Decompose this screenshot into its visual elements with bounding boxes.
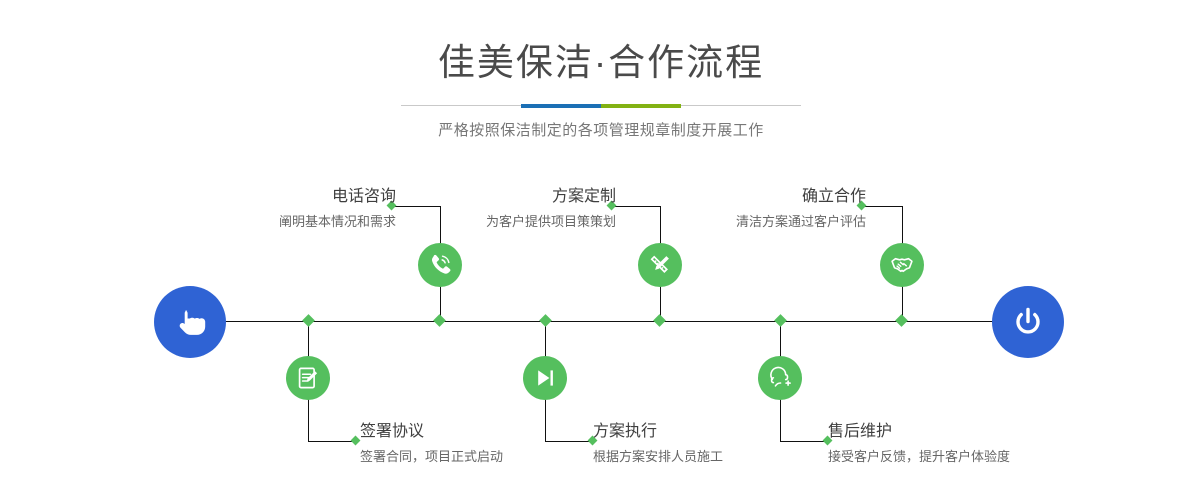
step-title-4: 方案执行 xyxy=(593,421,723,443)
step-label-5: 确立合作 清洁方案通过客户评估 xyxy=(690,186,866,231)
play-skip-icon xyxy=(532,365,558,391)
axis-marker-step-5 xyxy=(895,314,908,327)
step-desc-5: 清洁方案通过客户评估 xyxy=(690,208,866,231)
connector-horizontal-step-6 xyxy=(780,441,828,442)
step-title-5: 确立合作 xyxy=(690,186,866,208)
headset-support-icon xyxy=(767,365,793,391)
step-label-1: 电话咨询 阐明基本情况和需求 xyxy=(220,186,396,231)
step-icon-4[interactable] xyxy=(523,356,567,400)
step-icon-6[interactable] xyxy=(758,356,802,400)
axis-marker-step-3 xyxy=(653,314,666,327)
label-marker-step-2 xyxy=(351,436,361,446)
handshake-icon xyxy=(889,252,915,278)
axis-marker-step-1 xyxy=(433,314,446,327)
connector-horizontal-step-4 xyxy=(545,441,593,442)
axis-marker-step-2 xyxy=(302,314,315,327)
pointing-hand-icon xyxy=(170,302,210,342)
step-title-2: 签署协议 xyxy=(360,421,503,443)
document-edit-icon xyxy=(295,365,321,391)
step-title-6: 售后维护 xyxy=(828,421,1010,443)
axis-marker-step-4 xyxy=(539,314,552,327)
power-icon xyxy=(1008,302,1048,342)
step-label-6: 售后维护 接受客户反馈，提升客户体验度 xyxy=(828,421,1010,466)
connector-horizontal-step-3 xyxy=(612,206,660,207)
flow-start-node[interactable] xyxy=(154,286,226,358)
phone-call-icon xyxy=(427,252,453,278)
step-title-3: 方案定制 xyxy=(440,186,616,208)
step-label-4: 方案执行 根据方案安排人员施工 xyxy=(593,421,723,466)
step-desc-4: 根据方案安排人员施工 xyxy=(593,443,723,466)
step-desc-6: 接受客户反馈，提升客户体验度 xyxy=(828,443,1010,466)
connector-horizontal-step-1 xyxy=(392,206,440,207)
pencil-ruler-icon xyxy=(647,252,673,278)
step-icon-1[interactable] xyxy=(418,243,462,287)
step-desc-2: 签署合同，项目正式启动 xyxy=(360,443,503,466)
timeline: 电话咨询 阐明基本情况和需求 签署协议 签署合同，项目正式启动 xyxy=(0,0,1202,502)
process-flow-infographic: 佳美保洁·合作流程 严格按照保洁制定的各项管理规章制度开展工作 xyxy=(0,0,1202,502)
axis-marker-step-6 xyxy=(774,314,787,327)
step-title-1: 电话咨询 xyxy=(220,186,396,208)
step-icon-2[interactable] xyxy=(286,356,330,400)
step-icon-5[interactable] xyxy=(880,243,924,287)
flow-end-node[interactable] xyxy=(992,286,1064,358)
connector-horizontal-step-2 xyxy=(308,441,356,442)
step-label-3: 方案定制 为客户提供项目策策划 xyxy=(440,186,616,231)
step-desc-3: 为客户提供项目策策划 xyxy=(440,208,616,231)
connector-horizontal-step-5 xyxy=(862,206,902,207)
step-icon-3[interactable] xyxy=(638,243,682,287)
step-desc-1: 阐明基本情况和需求 xyxy=(220,208,396,231)
step-label-2: 签署协议 签署合同，项目正式启动 xyxy=(360,421,503,466)
